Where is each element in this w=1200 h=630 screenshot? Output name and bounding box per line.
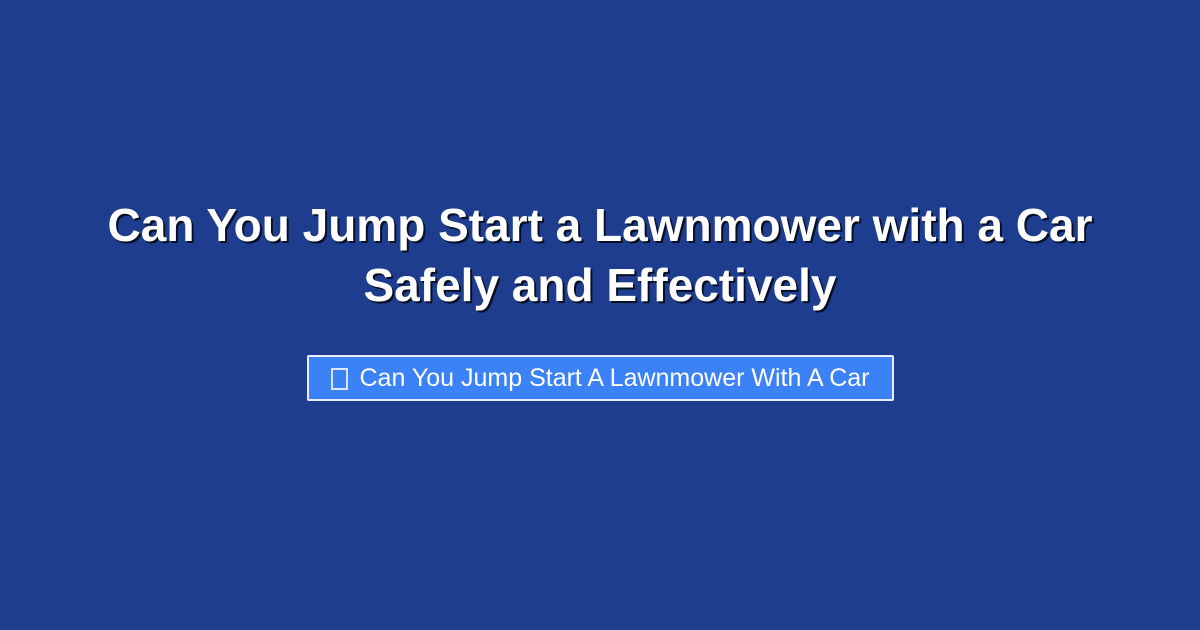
og-preview-card: Can You Jump Start a Lawnmower with a Ca… (0, 0, 1200, 630)
missing-glyph-box-icon (331, 368, 348, 390)
cta-button[interactable]: Can You Jump Start A Lawnmower With A Ca… (307, 355, 894, 401)
page-title: Can You Jump Start a Lawnmower with a Ca… (60, 196, 1140, 316)
cta-container: Can You Jump Start A Lawnmower With A Ca… (0, 355, 1200, 401)
cta-button-label: Can You Jump Start A Lawnmower With A Ca… (360, 366, 870, 391)
